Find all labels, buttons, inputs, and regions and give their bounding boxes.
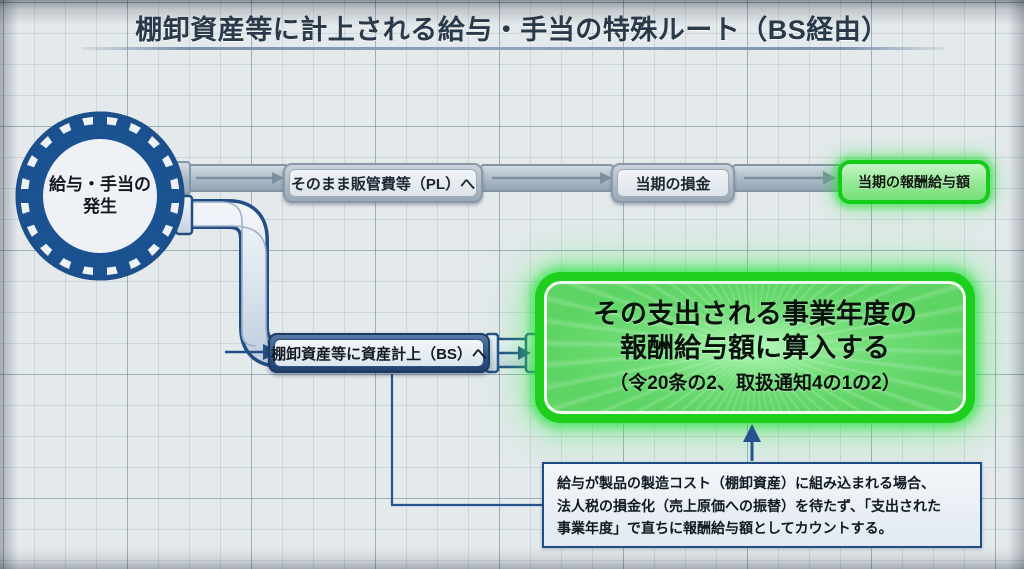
connector-note-to-green-main (743, 424, 761, 461)
connector-pl-to-loss (481, 165, 613, 191)
connector-gear-to-pl (176, 162, 288, 194)
source-node-label: 給与・手当の 発生 (14, 110, 186, 282)
note-line-1: 給与が製品の製造コスト（棚卸資産）に組み込まれる場合、 (557, 472, 969, 495)
source-node-label-line1: 給与・手当の (49, 174, 151, 196)
diagram-canvas: 棚卸資産等に計上される給与・手当の特殊ルート（BS経由） (0, 0, 1024, 569)
connector-bs-to-note (392, 374, 545, 505)
note-line-3: 事業年度」で直ちに報酬給与額としてカウントする。 (557, 517, 969, 540)
source-node-label-line2: 発生 (83, 196, 117, 218)
node-bs-capitalization-label: 棚卸資産等に資産計上（BS）へ (274, 339, 484, 367)
page-title: 棚卸資産等に計上される給与・手当の特殊ルート（BS経由） (0, 8, 1024, 47)
node-pl-expense-label: そのまま販管費等（PL）へ (289, 169, 477, 197)
note-line-2: 法人税の損金化（売上原価への振替）を待たず、「支出された (557, 495, 969, 518)
node-bs-conclusion-line2: 報酬給与額に算入する (620, 332, 890, 365)
node-current-loss-label: 当期の損金 (617, 169, 729, 197)
node-bs-conclusion-line1: その支出される事業年度の (593, 298, 917, 331)
node-bs-capitalization[interactable]: 棚卸資産等に資産計上（BS）へ (268, 333, 490, 373)
note-callout: 給与が製品の製造コスト（棚卸資産）に組み込まれる場合、 法人税の損金化（売上原価… (542, 462, 982, 548)
node-current-loss[interactable]: 当期の損金 (611, 163, 735, 203)
title-divider (82, 47, 944, 50)
node-current-remuneration[interactable]: 当期の報酬給与額 (838, 160, 990, 204)
node-bs-conclusion-citation: （令20条の2、取扱通知4の1の2） (609, 368, 900, 395)
node-bs-conclusion[interactable]: その支出される事業年度の 報酬給与額に算入する （令20条の2、取扱通知4の1の… (535, 272, 975, 423)
node-pl-expense[interactable]: そのまま販管費等（PL）へ (283, 163, 483, 203)
connector-bs-to-green-main (486, 334, 538, 372)
connector-loss-to-green-small (733, 165, 841, 191)
source-node-gear[interactable]: 給与・手当の 発生 (14, 110, 186, 282)
